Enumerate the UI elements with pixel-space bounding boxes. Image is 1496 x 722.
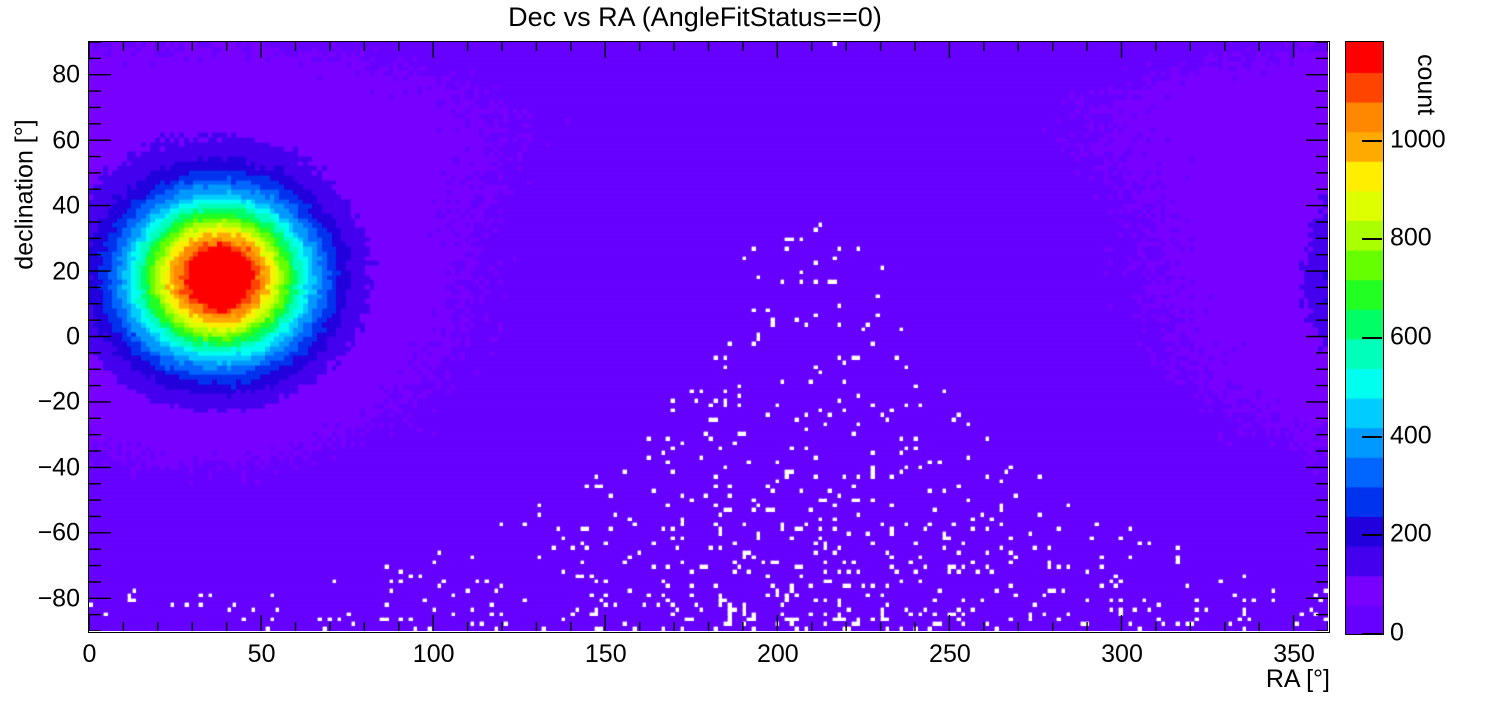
y-tick-label: −40 xyxy=(38,453,80,482)
color-scale-tick-mark xyxy=(1362,337,1382,339)
color-scale-tick-label: 200 xyxy=(1390,520,1432,549)
y-tick-label: 20 xyxy=(52,257,80,286)
histogram-heatmap xyxy=(89,42,1328,631)
y-tick-label: 60 xyxy=(52,126,80,155)
page-title: Dec vs RA (AngleFitStatus==0) xyxy=(0,2,1390,33)
color-scale-tick-mark xyxy=(1362,534,1382,536)
x-tick-label: 50 xyxy=(248,640,276,669)
x-tick-label: 100 xyxy=(413,640,455,669)
x-tick-label: 150 xyxy=(585,640,627,669)
color-scale-tick-mark xyxy=(1362,238,1382,240)
x-axis-title: RA [°] xyxy=(1266,665,1330,694)
color-scale-title: count xyxy=(1411,54,1440,115)
y-tick-label: 40 xyxy=(52,192,80,221)
color-scale-tick-label: 400 xyxy=(1390,422,1432,451)
y-tick-label: −60 xyxy=(38,519,80,548)
x-tick-label: 250 xyxy=(929,640,971,669)
color-scale-tick-mark xyxy=(1362,633,1382,635)
color-scale-tick-label: 0 xyxy=(1390,619,1404,648)
y-axis-title: declination [°] xyxy=(11,65,40,325)
y-tick-label: −80 xyxy=(38,584,80,613)
x-tick-label: 0 xyxy=(83,640,97,669)
y-tick-label: 80 xyxy=(52,61,80,90)
color-scale-tick-label: 800 xyxy=(1390,224,1432,253)
x-tick-label: 300 xyxy=(1101,640,1143,669)
y-tick-label: 0 xyxy=(66,323,80,352)
color-scale-tick-label: 1000 xyxy=(1390,126,1446,155)
y-tick-label: −20 xyxy=(38,388,80,417)
x-tick-label: 200 xyxy=(757,640,799,669)
color-scale-tick-mark xyxy=(1362,140,1382,142)
root-canvas: Dec vs RA (AngleFitStatus==0) 0501001502… xyxy=(0,0,1496,722)
color-scale-tick-mark xyxy=(1362,436,1382,438)
plot-frame xyxy=(88,41,1330,633)
color-scale-tick-label: 600 xyxy=(1390,323,1432,352)
